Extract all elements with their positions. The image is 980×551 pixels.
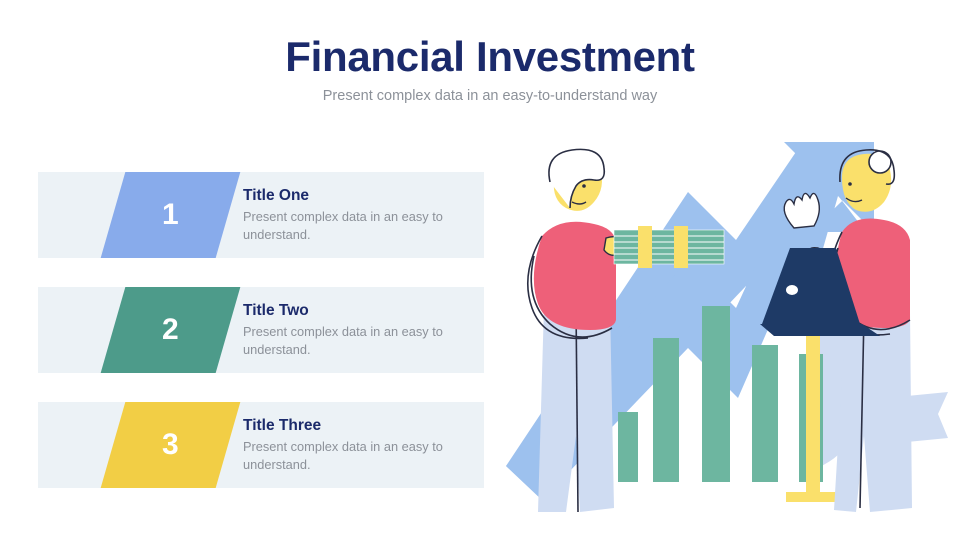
list-item-title: Title Three — [243, 416, 478, 435]
list-item-text: Title Two Present complex data in an eas… — [243, 301, 478, 359]
cash-stack-icon — [614, 226, 724, 268]
list-item-description: Present complex data in an easy to under… — [243, 208, 478, 243]
number-label: 1 — [162, 200, 179, 230]
list-item-title: Title Two — [243, 301, 478, 320]
slide-header: Financial Investment Present complex dat… — [0, 34, 980, 104]
list-item[interactable]: 1 Title One Present complex data in an e… — [38, 172, 484, 258]
number-label: 2 — [162, 315, 179, 345]
list-item-title: Title One — [243, 186, 478, 205]
list-item-text: Title One Present complex data in an eas… — [243, 186, 478, 244]
page-subtitle: Present complex data in an easy-to-under… — [0, 88, 980, 104]
number-badge-1: 1 — [101, 172, 241, 258]
number-badge-3: 3 — [101, 402, 241, 488]
list-item-description: Present complex data in an easy to under… — [243, 438, 478, 473]
list-item-description: Present complex data in an easy to under… — [243, 323, 478, 358]
feature-list: 1 Title One Present complex data in an e… — [38, 172, 484, 517]
page-title: Financial Investment — [0, 34, 980, 79]
list-item-text: Title Three Present complex data in an e… — [243, 416, 478, 474]
number-label: 3 — [162, 430, 179, 460]
list-item[interactable]: 3 Title Three Present complex data in an… — [38, 402, 484, 488]
list-item[interactable]: 2 Title Two Present complex data in an e… — [38, 287, 484, 373]
number-badge-2: 2 — [101, 287, 241, 373]
investment-illustration — [498, 136, 980, 540]
